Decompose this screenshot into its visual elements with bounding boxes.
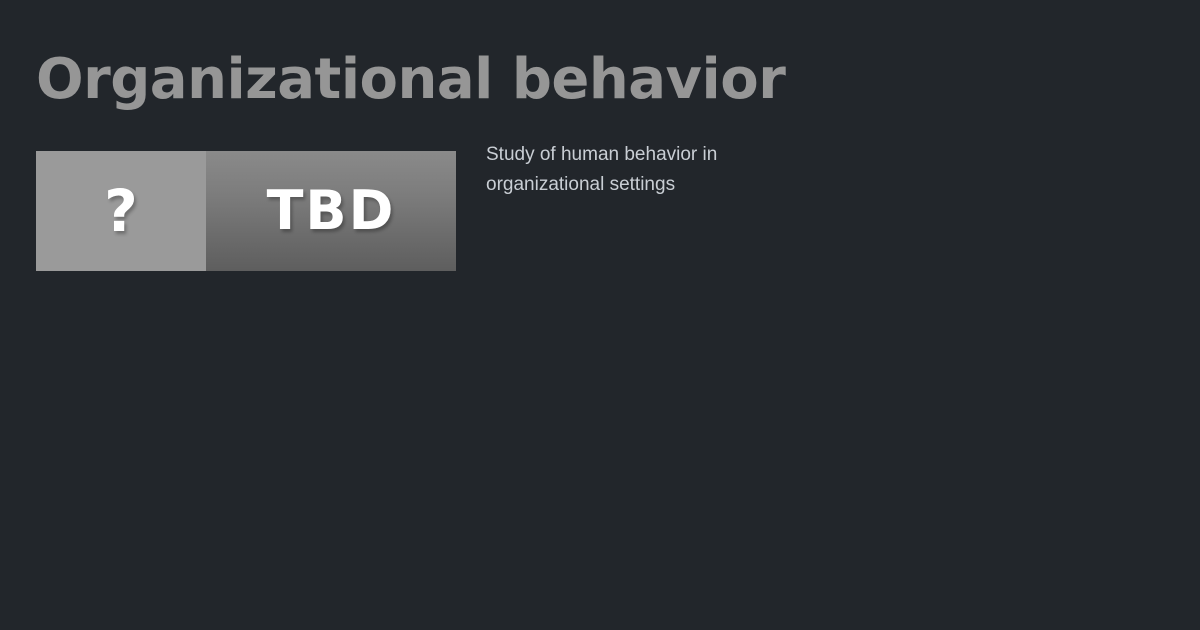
content-row: ? TBD Study of human behavior in organiz… <box>36 140 1164 271</box>
page-root: Organizational behavior ? TBD Study of h… <box>0 0 1200 630</box>
placeholder-tbd-panel: TBD <box>206 151 456 271</box>
page-title: Organizational behavior <box>36 47 785 113</box>
question-mark-icon: ? <box>104 182 138 240</box>
image-placeholder[interactable]: ? TBD <box>36 151 456 271</box>
placeholder-tbd-label: TBD <box>267 184 396 238</box>
description-text: Study of human behavior in organizationa… <box>486 140 776 200</box>
placeholder-question-panel: ? <box>36 151 206 271</box>
